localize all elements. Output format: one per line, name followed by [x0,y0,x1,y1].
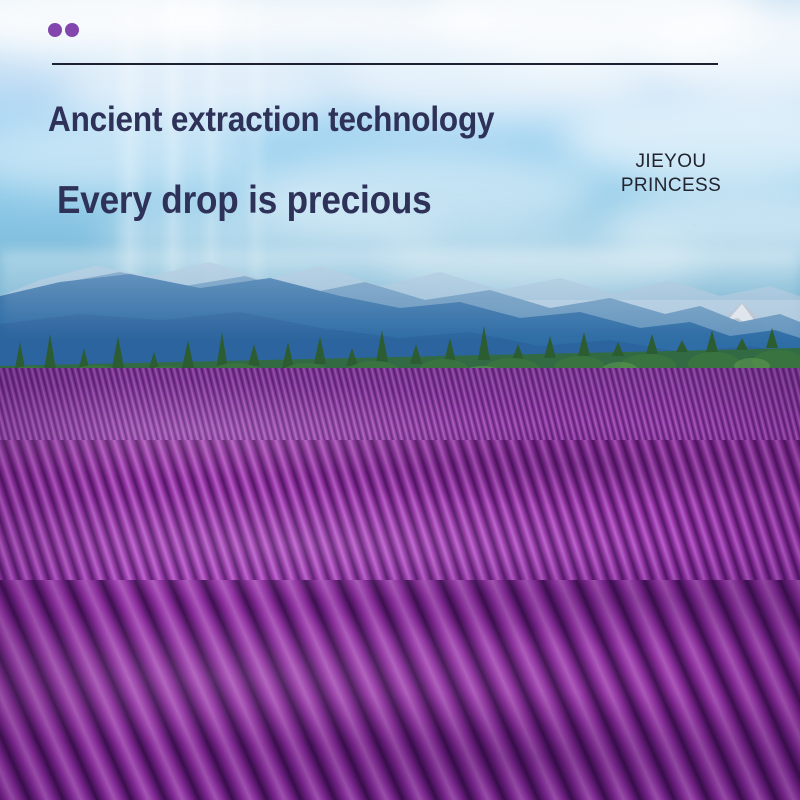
divider-line [52,63,718,65]
brand-name: JIEYOU PRINCESS [581,150,761,198]
lavender-field-foreground [0,580,800,800]
brand-line-2: PRINCESS [581,174,761,198]
brand-line-1: JIEYOU [581,150,761,174]
logo-dots [48,23,79,37]
cloud-shape [640,10,800,95]
purple-dot-icon [65,23,79,37]
cloud-shape [380,225,700,295]
purple-dot-icon [48,23,62,37]
headline-secondary: Every drop is precious [57,180,431,222]
cloud-shape [430,0,760,70]
cloud-shape [150,0,490,60]
headline-primary: Ancient extraction technology [48,101,494,139]
promo-banner: Ancient extraction technology Every drop… [0,0,800,800]
cloud-shape [0,0,240,60]
